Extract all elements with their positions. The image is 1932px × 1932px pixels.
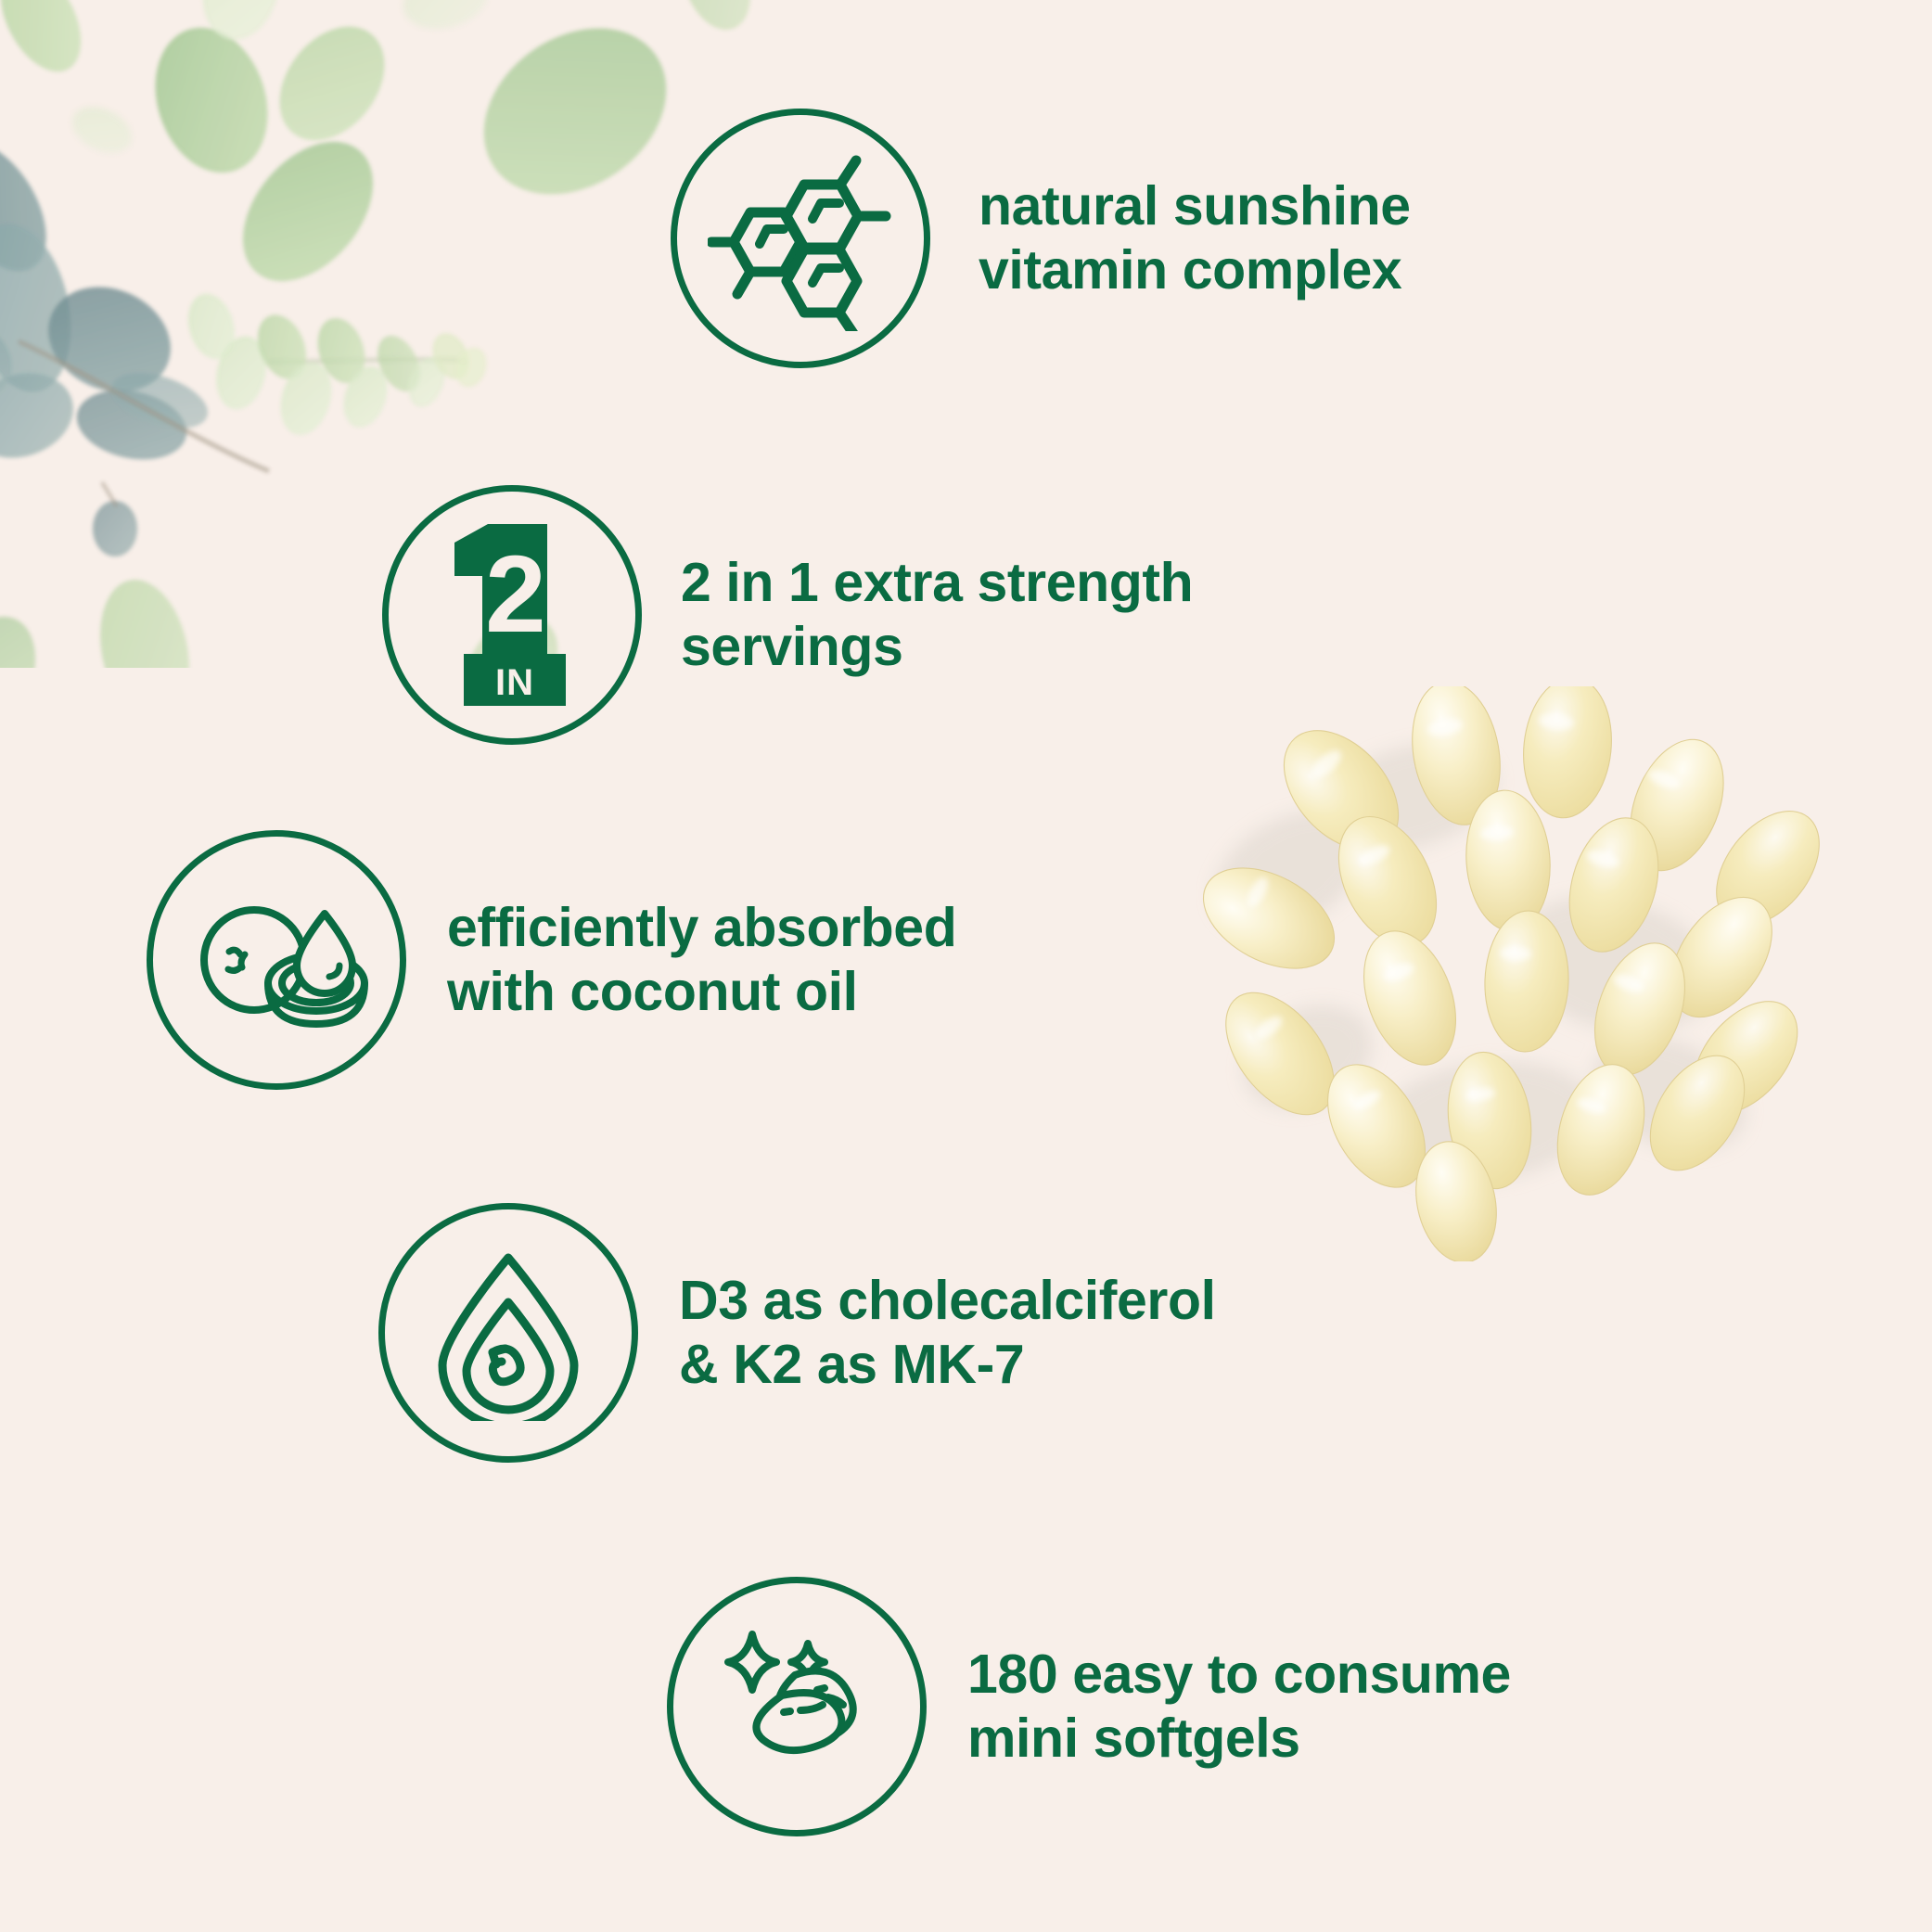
softgel-capsules-sparkle-icon: [667, 1577, 927, 1836]
feature-row-coconut-oil: efficiently absorbed with coconut oil: [147, 830, 956, 1090]
svg-text:IN: IN: [495, 662, 534, 703]
vitamin-softgel-capsules-photo: [1178, 686, 1827, 1261]
droplet-spiral-icon: [378, 1203, 638, 1463]
two-in-one-badge-icon: 2 IN: [382, 485, 642, 745]
svg-text:2: 2: [485, 533, 546, 656]
feature-label: 2 in 1 extra strength servings: [681, 551, 1193, 679]
product-feature-infographic: natural sunshine vitamin complex 2 IN 2 …: [0, 0, 1932, 1932]
feature-label: D3 as cholecalciferol & K2 as MK-7: [679, 1269, 1216, 1397]
feature-label: 180 easy to consume mini softgels: [967, 1643, 1511, 1771]
feature-row-d3-k2: D3 as cholecalciferol & K2 as MK-7: [378, 1203, 1216, 1463]
feature-row-natural-sunshine: natural sunshine vitamin complex: [671, 109, 1411, 368]
feature-row-mini-softgels: 180 easy to consume mini softgels: [667, 1577, 1511, 1836]
feature-label: natural sunshine vitamin complex: [979, 174, 1411, 302]
molecule-hexagons-icon: [671, 109, 930, 368]
feature-row-two-in-one: 2 IN 2 in 1 extra strength servings: [382, 485, 1193, 745]
coconut-oil-droplet-icon: [147, 830, 406, 1090]
feature-label: efficiently absorbed with coconut oil: [447, 896, 956, 1024]
